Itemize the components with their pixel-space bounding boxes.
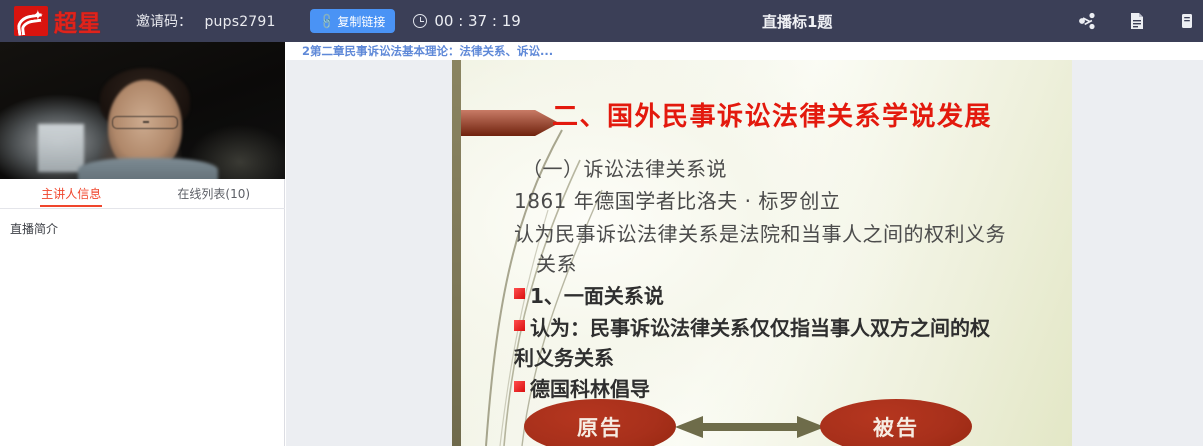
copy-link-label: 复制链接 [337, 13, 385, 30]
sidebar-tabs: 主讲人信息 在线列表(10) [0, 179, 285, 209]
breadcrumb[interactable]: 2第二章民事诉讼法基本理论：法律关系、诉讼... [302, 43, 553, 59]
slide-bullet-2: 认为：民事诉讼法律关系仅仅指当事人双方之间的权 [514, 312, 990, 341]
diagram-node-plaintiff-label: 原告 [577, 412, 623, 442]
slide-line-claim-1: 认为民事诉讼法律关系是法院和当事人之间的权利义务 [514, 218, 1006, 247]
more-icon[interactable] [1177, 11, 1197, 31]
double-headed-arrow-icon [675, 415, 825, 439]
red-square-bullet-icon [514, 381, 525, 392]
timer-value: 00 : 37 : 19 [434, 12, 520, 30]
slide-bullet-3-text: 德国科林倡导 [530, 373, 650, 402]
slide-bullet-3: 德国科林倡导 [514, 373, 650, 402]
diagram-node-plaintiff: 原告 [524, 399, 676, 446]
top-header-bar: ✦ 超星 邀请码： pups2791 🔗 复制链接 00 : 37 : 19 直… [0, 0, 1203, 42]
chaoxing-star-logo-icon: ✦ [14, 6, 48, 36]
video-person-torso [78, 158, 218, 179]
video-person-glasses [112, 116, 178, 129]
main-content-area: 2第二章民事诉讼法基本理论：法律关系、诉讼... [286, 42, 1203, 446]
invite-code-label: 邀请码： [136, 14, 192, 30]
live-class-page: ✦ 超星 邀请码： pups2791 🔗 复制链接 00 : 37 : 19 直… [0, 0, 1203, 446]
tab-online-list[interactable]: 在线列表(10) [143, 179, 286, 208]
alarm-clock-icon [413, 14, 427, 28]
brand-logo[interactable]: ✦ 超星 [14, 4, 102, 38]
invite-code-block: 邀请码： pups2791 [136, 11, 276, 31]
tab-presenter-info-label: 主讲人信息 [41, 185, 101, 202]
diagram-node-defendant: 被告 [820, 399, 972, 446]
live-intro-label: 直播简介 [10, 220, 58, 237]
presenter-webcam-stream[interactable] [0, 42, 285, 179]
logo-text: 超星 [54, 4, 102, 38]
slide-left-accent-bar [452, 60, 461, 446]
red-square-bullet-icon [514, 288, 525, 299]
slide-title: 二、国外民事诉讼法律关系学说发展 [552, 96, 1067, 133]
red-square-bullet-icon [514, 320, 525, 331]
breadcrumb-bar: 2第二章民事诉讼法基本理论：法律关系、诉讼... [286, 42, 1203, 60]
copy-link-button[interactable]: 🔗 复制链接 [310, 9, 396, 33]
slide-bullet-2-text: 认为：民事诉讼法律关系仅仅指当事人双方之间的权 [530, 312, 990, 341]
slide-line-claim-2: 关系 [536, 248, 577, 277]
left-sidebar: 主讲人信息 在线列表(10) 直播简介 [0, 42, 285, 446]
link-icon: 🔗 [317, 12, 336, 31]
session-timer: 00 : 37 : 19 [413, 12, 520, 30]
slide-bullet-2-continuation: 利义务关系 [514, 342, 614, 371]
tab-online-list-label: 在线列表(10) [177, 185, 250, 202]
presentation-slide[interactable]: 二、国外民事诉讼法律关系学说发展 （一）诉讼法律关系说 1861 年德国学者比洛… [452, 60, 1072, 446]
header-actions [1077, 0, 1203, 42]
diagram-node-defendant-label: 被告 [873, 412, 919, 442]
video-background-window [38, 124, 84, 172]
title-arrow-shape [461, 105, 559, 141]
slide-subtitle: （一）诉讼法律关系说 [522, 153, 727, 182]
tab-presenter-info[interactable]: 主讲人信息 [0, 179, 143, 208]
invite-code-value: pups2791 [204, 14, 275, 30]
page-title: 直播标1题 [762, 0, 832, 42]
share-icon[interactable] [1077, 11, 1097, 31]
slide-bullet-1: 1、一面关系说 [514, 280, 664, 309]
slide-bullet-1-text: 1、一面关系说 [530, 280, 664, 309]
slide-line-year: 1861 年德国学者比洛夫 · 标罗创立 [514, 185, 840, 214]
document-icon[interactable] [1127, 11, 1147, 31]
